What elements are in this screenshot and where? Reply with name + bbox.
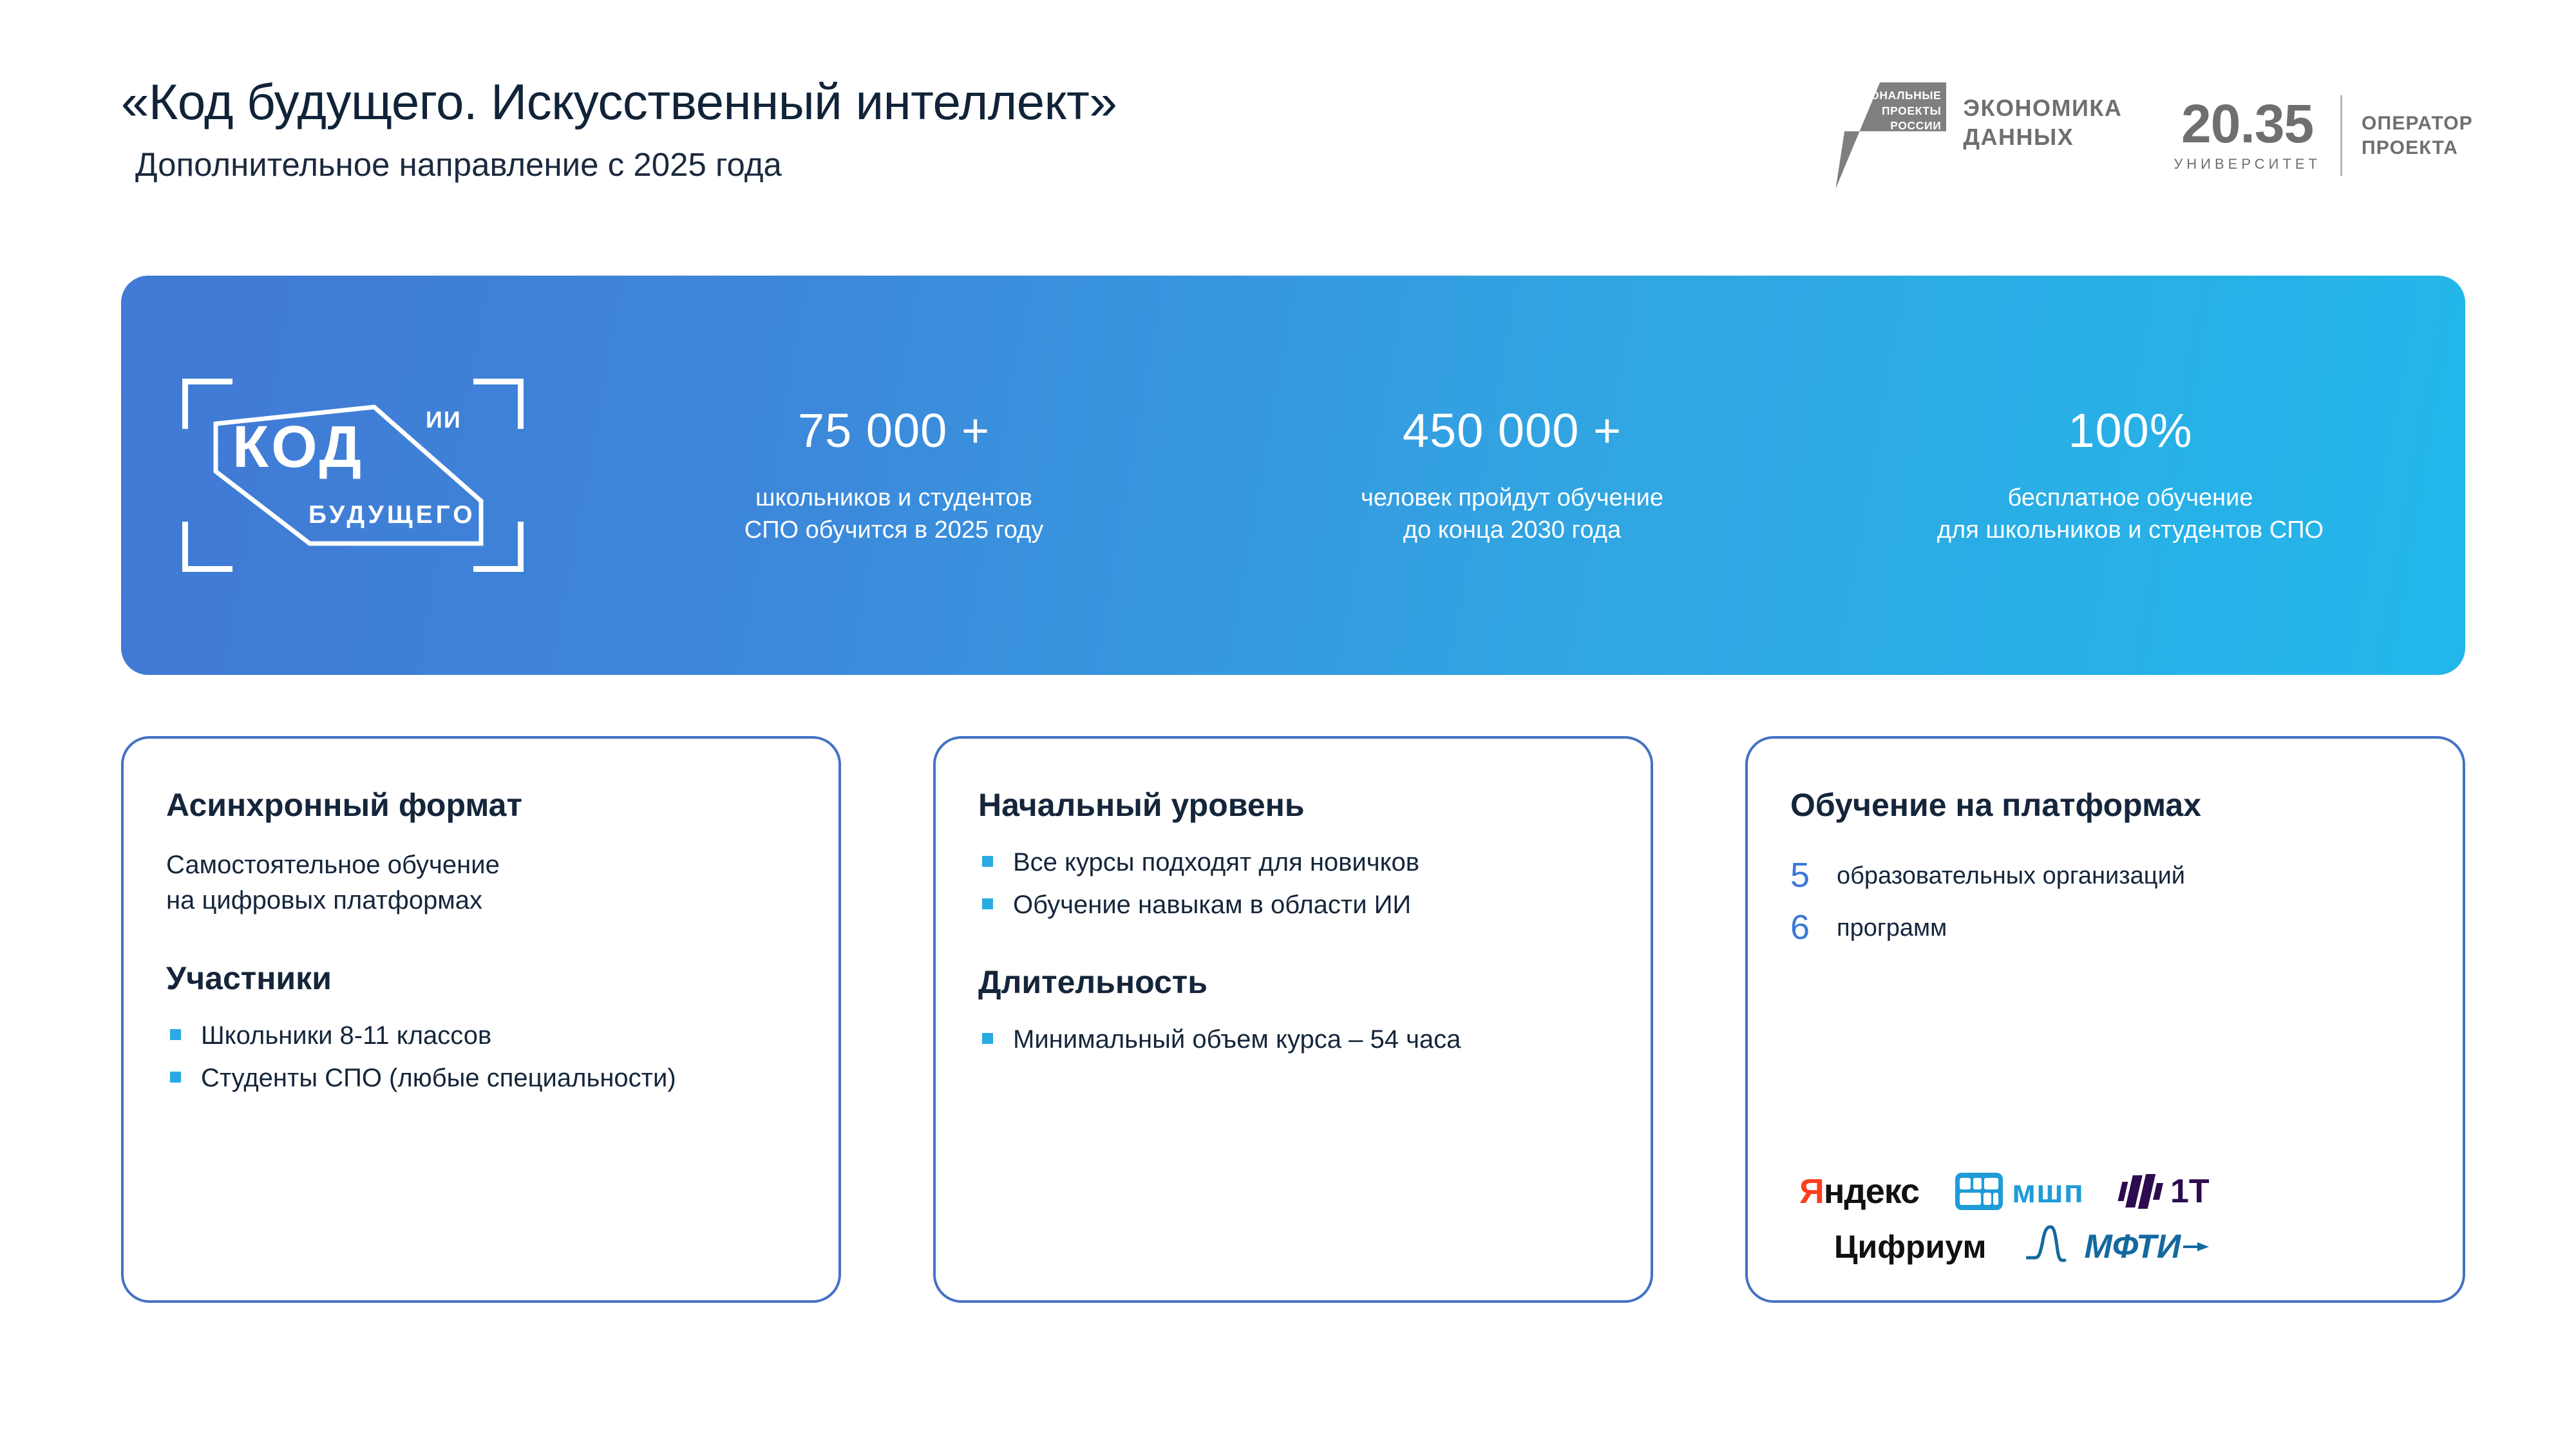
kod-budushchego-logo: КОД ИИ БУДУЩЕГО xyxy=(182,379,524,572)
mipt-wave-icon xyxy=(2026,1224,2088,1269)
mipt-logo-text: МФТИ xyxy=(2084,1230,2181,1264)
card-title: Обучение на платформах xyxy=(1790,788,2420,823)
logo-divider xyxy=(2340,95,2342,176)
count-label: программ xyxy=(1837,909,1947,944)
stat-caption: школьников и студентов СПО обучится в 20… xyxy=(585,482,1203,546)
logo-word-budushchego: БУДУЩЕГО xyxy=(308,502,476,527)
stat-caption: человек пройдут обучение до конца 2030 г… xyxy=(1203,482,1821,546)
university-2035-logo: 20.35 УНИВЕРСИТЕТ ОПЕРАТОР ПРОЕКТА xyxy=(2173,95,2473,176)
card-title: Начальный уровень xyxy=(978,788,1608,823)
np-flag-line-2: ПРОЕКТЫ xyxy=(1882,106,1941,117)
mipt-arrow-icon xyxy=(2183,1241,2209,1253)
stat-item-2: 450 000 + человек пройдут обучение до ко… xyxy=(1203,404,1821,546)
list-item: Минимальный объем курса – 54 часа xyxy=(978,1022,1608,1057)
partner-logos: Яндекс мшп 1Т xyxy=(1790,1173,2430,1269)
card-paragraph-line-2: на цифровых платформах xyxy=(166,883,796,918)
count-number: 5 xyxy=(1790,857,1816,895)
mshp-logo: мшп xyxy=(1955,1173,2084,1210)
stat-caption-line-1: бесплатное обучение xyxy=(1821,482,2439,514)
card-section-title: Участники xyxy=(166,961,796,996)
logo-word-ii: ИИ xyxy=(426,408,462,431)
card-bullet-list: Школьники 8-11 классов Студенты СПО (люб… xyxy=(166,1018,796,1095)
card-platforms: Обучение на платформах 5 образовательных… xyxy=(1745,736,2465,1303)
count-number: 6 xyxy=(1790,909,1816,947)
stat-caption-line-2: для школьников и студентов СПО xyxy=(1821,514,2439,546)
card-paragraph: Самостоятельное обучение на цифровых пла… xyxy=(166,848,796,918)
page-subtitle: Дополнительное направление с 2025 года xyxy=(135,146,1117,184)
operator-line-1: ОПЕРАТОР xyxy=(2362,114,2473,133)
1t-logo-text: 1Т xyxy=(2170,1175,2210,1208)
stat-item-1: 75 000 + школьников и студентов СПО обуч… xyxy=(585,404,1203,546)
card-beginner-level: Начальный уровень Все курсы подходят для… xyxy=(933,736,1653,1303)
header-logos: НАЦИОНАЛЬНЫЕ ПРОЕКТЫ РОССИИ ЭКОНОМИКА ДА… xyxy=(1835,82,2473,189)
card-asynchronous-format: Асинхронный формат Самостоятельное обуче… xyxy=(121,736,841,1303)
mshp-mark-icon xyxy=(1955,1173,2003,1210)
stat-caption: бесплатное обучение для школьников и сту… xyxy=(1821,482,2439,546)
yandex-logo: Яндекс xyxy=(1799,1174,1919,1209)
partner-logos-row-2: Цифриум МФТИ xyxy=(1790,1224,2430,1269)
list-item: Обучение навыкам в области ИИ xyxy=(978,887,1608,922)
card-title: Асинхронный формат xyxy=(166,788,796,823)
stat-value: 75 000 + xyxy=(585,404,1203,457)
np-word-2: ДАННЫХ xyxy=(1963,126,2122,149)
cifrium-logo: Цифриум xyxy=(1834,1231,1986,1263)
cards-row: Асинхронный формат Самостоятельное обуче… xyxy=(121,736,2465,1303)
1t-bars-icon xyxy=(2120,1174,2161,1209)
stat-caption-line-1: человек пройдут обучение xyxy=(1203,482,1821,514)
stats-banner: КОД ИИ БУДУЩЕГО 75 000 + школьников и ст… xyxy=(121,276,2465,675)
stat-caption-line-1: школьников и студентов xyxy=(585,482,1203,514)
platform-counts: 5 образовательных организаций 6 программ xyxy=(1790,857,2420,947)
list-item: Студенты СПО (любые специальности) xyxy=(166,1061,796,1095)
np-flag-line-3: РОССИИ xyxy=(1890,120,1941,132)
mshp-logo-text: мшп xyxy=(2012,1175,2084,1207)
yandex-logo-text: ндекс xyxy=(1824,1172,1919,1211)
card-section-bullet-list: Минимальный объем курса – 54 часа xyxy=(978,1022,1608,1057)
np-flag-line-1: НАЦИОНАЛЬНЫЕ xyxy=(1836,90,1941,102)
university-mark: 20.35 УНИВЕРСИТЕТ xyxy=(2173,99,2321,173)
card-paragraph-line-1: Самостоятельное обучение xyxy=(166,848,796,883)
count-label: образовательных организаций xyxy=(1837,857,2185,892)
stat-item-3: 100% бесплатное обучение для школьников … xyxy=(1821,404,2439,546)
banner-logo-area: КОД ИИ БУДУЩЕГО xyxy=(121,379,585,572)
slide-header: «Код будущего. Искусственный интеллект» … xyxy=(0,0,2576,251)
card-section-title: Длительность xyxy=(978,965,1608,1000)
project-operator-label: ОПЕРАТОР ПРОЕКТА xyxy=(2362,114,2473,158)
national-projects-flag-icon: НАЦИОНАЛЬНЫЕ ПРОЕКТЫ РОССИИ xyxy=(1835,82,1946,189)
title-block: «Код будущего. Искусственный интеллект» … xyxy=(121,76,1117,184)
slide: «Код будущего. Искусственный интеллект» … xyxy=(0,0,2576,1449)
card-bullet-list: Все курсы подходят для новичков Обучение… xyxy=(978,845,1608,922)
list-item: Школьники 8-11 классов xyxy=(166,1018,796,1053)
page-title: «Код будущего. Искусственный интеллект» xyxy=(121,76,1117,129)
economy-of-data-wordmark: ЭКОНОМИКА ДАННЫХ xyxy=(1963,82,2122,149)
logo-word-kod: КОД xyxy=(232,417,364,477)
stat-value: 450 000 + xyxy=(1203,404,1821,457)
banner-stats: 75 000 + школьников и студентов СПО обуч… xyxy=(585,404,2465,546)
count-row-organizations: 5 образовательных организаций xyxy=(1790,857,2420,895)
stat-value: 100% xyxy=(1821,404,2439,457)
np-word-1: ЭКОНОМИКА xyxy=(1963,97,2122,120)
operator-line-2: ПРОЕКТА xyxy=(2362,138,2473,158)
stat-caption-line-2: до конца 2030 года xyxy=(1203,514,1821,546)
1t-logo: 1Т xyxy=(2120,1174,2210,1209)
university-word: УНИВЕРСИТЕТ xyxy=(2173,156,2321,173)
university-number: 20.35 xyxy=(2181,99,2313,150)
yandex-logo-ya: Я xyxy=(1799,1172,1824,1211)
list-item: Все курсы подходят для новичков xyxy=(978,845,1608,880)
national-projects-logo: НАЦИОНАЛЬНЫЕ ПРОЕКТЫ РОССИИ ЭКОНОМИКА ДА… xyxy=(1835,82,2122,189)
partner-logos-row-1: Яндекс мшп 1Т xyxy=(1790,1173,2430,1210)
stat-caption-line-2: СПО обучится в 2025 году xyxy=(585,514,1203,546)
count-row-programs: 6 программ xyxy=(1790,909,2420,947)
mipt-logo: МФТИ xyxy=(2026,1224,2209,1269)
